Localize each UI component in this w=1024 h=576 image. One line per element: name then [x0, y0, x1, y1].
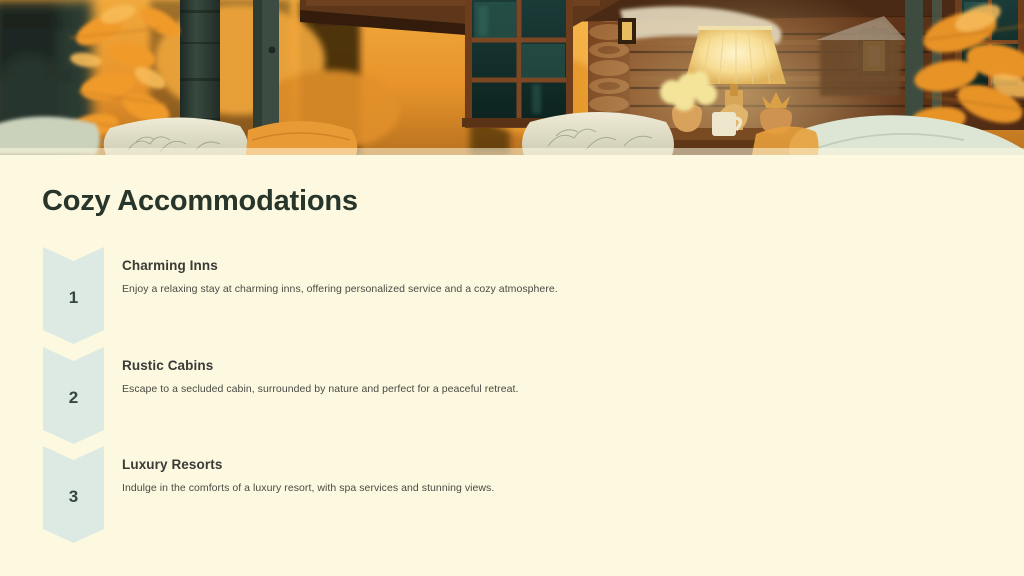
step-text-block: Charming Inns Enjoy a relaxing stay at c… — [122, 258, 822, 296]
page-title: Cozy Accommodations — [42, 187, 358, 216]
list-item: 1 Charming Inns Enjoy a relaxing stay at… — [0, 247, 1024, 344]
step-number: 1 — [43, 247, 104, 344]
step-description: Enjoy a relaxing stay at charming inns, … — [122, 282, 822, 296]
step-heading: Luxury Resorts — [122, 457, 822, 474]
step-text-block: Rustic Cabins Escape to a secluded cabin… — [122, 358, 822, 396]
chevron-badge-1: 1 — [43, 247, 104, 344]
content-section: Cozy Accommodations 1 Charming Inns Enjo… — [0, 155, 1024, 576]
step-heading: Charming Inns — [122, 258, 822, 275]
step-heading: Rustic Cabins — [122, 358, 822, 375]
step-number: 3 — [43, 446, 104, 543]
step-description: Indulge in the comforts of a luxury reso… — [122, 481, 822, 495]
step-text-block: Luxury Resorts Indulge in the comforts o… — [122, 457, 822, 495]
chevron-badge-3: 3 — [43, 446, 104, 543]
list-item: 2 Rustic Cabins Escape to a secluded cab… — [0, 347, 1024, 444]
chevron-badge-2: 2 — [43, 347, 104, 444]
list-item: 3 Luxury Resorts Indulge in the comforts… — [0, 446, 1024, 543]
hero-illustration — [0, 0, 1024, 155]
step-number: 2 — [43, 347, 104, 444]
step-description: Escape to a secluded cabin, surrounded b… — [122, 382, 822, 396]
hero-image — [0, 0, 1024, 155]
